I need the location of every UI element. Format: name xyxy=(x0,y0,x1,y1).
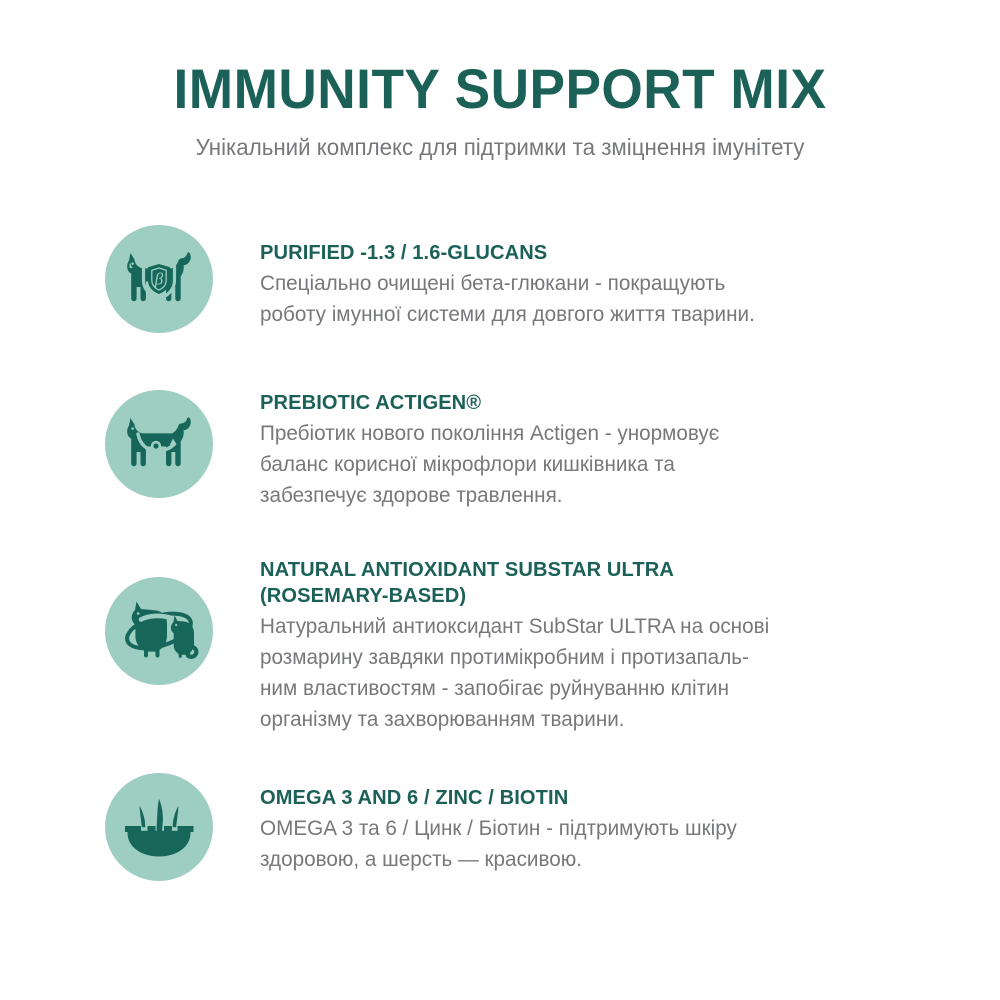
feature-body: OMEGA 3 та 6 / Цинк / Біотин - підтримую… xyxy=(260,813,885,875)
feature-heading: PURIFIED -1.3 / 1.6-GLUCANS xyxy=(260,240,882,266)
feature-item-prebiotic: PREBIOTIC ACTIGEN® Пребіотик нового поко… xyxy=(0,390,1000,511)
feature-heading: OMEGA 3 AND 6 / ZINC / BIOTIN xyxy=(260,785,882,811)
page-subtitle: Унікальний комплекс для підтримки та змі… xyxy=(15,132,985,162)
feature-body: Натуральний антиоксидант SubStar ULTRA н… xyxy=(260,611,885,735)
feature-list: β PURIFIED -1.3 / 1.6-GLUCANS Спеціально… xyxy=(0,225,1000,881)
feature-text-block: NATURAL ANTIOXIDANT SUBSTAR ULTRA (ROSEM… xyxy=(213,557,1000,735)
svg-text:β: β xyxy=(154,270,164,289)
header: IMMUNITY SUPPORT MIX Унікальний комплекс… xyxy=(0,58,1000,162)
dog-with-digestion-arrow-icon xyxy=(105,390,213,498)
feature-item-omega-zinc-biotin: OMEGA 3 AND 6 / ZINC / BIOTIN OMEGA 3 та… xyxy=(0,773,1000,881)
feature-text-block: PURIFIED -1.3 / 1.6-GLUCANS Спеціально о… xyxy=(213,225,1000,330)
feature-body: Спеціально очищені бета-глюкани - покращ… xyxy=(260,268,885,330)
feature-heading: NATURAL ANTIOXIDANT SUBSTAR ULTRA (ROSEM… xyxy=(260,557,882,609)
hair-follicles-skin-icon xyxy=(105,773,213,881)
feature-heading: PREBIOTIC ACTIGEN® xyxy=(260,390,882,416)
feature-text-block: PREBIOTIC ACTIGEN® Пребіотик нового поко… xyxy=(213,390,1000,511)
dog-and-cat-protection-orbit-icon xyxy=(105,577,213,685)
feature-body: Пребіотик нового покоління Actigen - уно… xyxy=(260,418,885,511)
dog-with-beta-shield-icon: β xyxy=(105,225,213,333)
feature-text-block: OMEGA 3 AND 6 / ZINC / BIOTIN OMEGA 3 та… xyxy=(213,773,1000,875)
feature-item-antioxidant: NATURAL ANTIOXIDANT SUBSTAR ULTRA (ROSEM… xyxy=(0,557,1000,735)
feature-item-glucans: β PURIFIED -1.3 / 1.6-GLUCANS Спеціально… xyxy=(0,225,1000,333)
product-benefits-infographic: IMMUNITY SUPPORT MIX Унікальний комплекс… xyxy=(0,0,1000,1000)
page-title: IMMUNITY SUPPORT MIX xyxy=(25,58,975,120)
